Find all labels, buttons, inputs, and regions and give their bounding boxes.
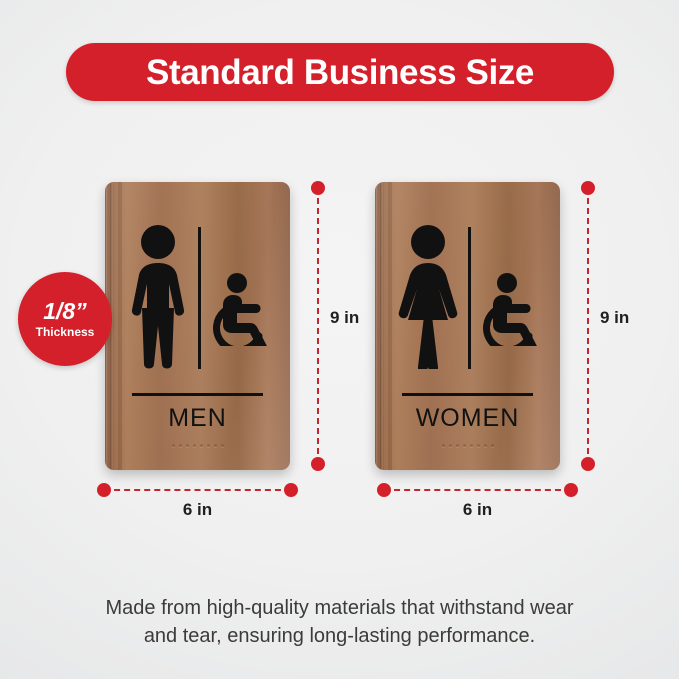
caption-line-1: Made from high-quality materials that wi… bbox=[60, 594, 619, 622]
thickness-label: Thickness bbox=[36, 326, 95, 338]
dimension-dot-bottom bbox=[581, 457, 595, 471]
dimension-dash-women-width bbox=[384, 489, 571, 491]
thickness-value: 1/8” bbox=[43, 300, 86, 323]
dimension-dot-top bbox=[311, 181, 325, 195]
dimension-dot-bottom bbox=[311, 457, 325, 471]
dimension-dash-men-height bbox=[317, 188, 319, 464]
dimension-label-men-height: 9 in bbox=[330, 308, 359, 328]
wheelchair-icon bbox=[213, 272, 283, 346]
dimension-dash-men-width bbox=[104, 489, 291, 491]
sign-plate-women: WOMEN bbox=[375, 182, 560, 470]
sign-rule-men bbox=[132, 393, 263, 396]
dimension-line-men-height bbox=[311, 182, 325, 470]
sign-rule-women bbox=[402, 393, 533, 396]
caption-line-2: and tear, ensuring long-lasting performa… bbox=[60, 622, 619, 650]
sign-plate-men: MEN bbox=[105, 182, 290, 470]
dimension-line-women-height bbox=[581, 182, 595, 470]
page-title: Standard Business Size bbox=[146, 55, 534, 90]
dimension-dot-left bbox=[97, 483, 111, 497]
dimension-dot-left bbox=[377, 483, 391, 497]
pictogram-group-women bbox=[375, 224, 560, 369]
dimension-label-women-width: 6 in bbox=[378, 500, 577, 520]
dimension-line-men-width bbox=[98, 483, 297, 497]
dimension-dot-right bbox=[284, 483, 298, 497]
sign-label-men: MEN bbox=[105, 404, 290, 433]
caption-text: Made from high-quality materials that wi… bbox=[60, 594, 619, 651]
male-figure-icon bbox=[127, 224, 189, 369]
dimension-label-women-height: 9 in bbox=[600, 308, 629, 328]
dimension-line-women-width bbox=[378, 483, 577, 497]
sign-label-women: WOMEN bbox=[375, 404, 560, 433]
thickness-badge: 1/8” Thickness bbox=[18, 272, 112, 366]
dimension-dash-women-height bbox=[587, 188, 589, 464]
infographic-canvas: Standard Business Size 1/8” Thickness ME… bbox=[0, 0, 679, 679]
dimension-dot-top bbox=[581, 181, 595, 195]
divider-line-women bbox=[468, 227, 471, 369]
header-banner: Standard Business Size bbox=[66, 43, 614, 101]
wheelchair-icon bbox=[483, 272, 553, 346]
braille-dots-women bbox=[375, 444, 560, 447]
dimension-dot-right bbox=[564, 483, 578, 497]
pictogram-group-men bbox=[105, 224, 290, 369]
braille-dots-men bbox=[105, 444, 290, 447]
divider-line-men bbox=[198, 227, 201, 369]
female-figure-icon bbox=[397, 224, 459, 369]
dimension-label-men-width: 6 in bbox=[98, 500, 297, 520]
